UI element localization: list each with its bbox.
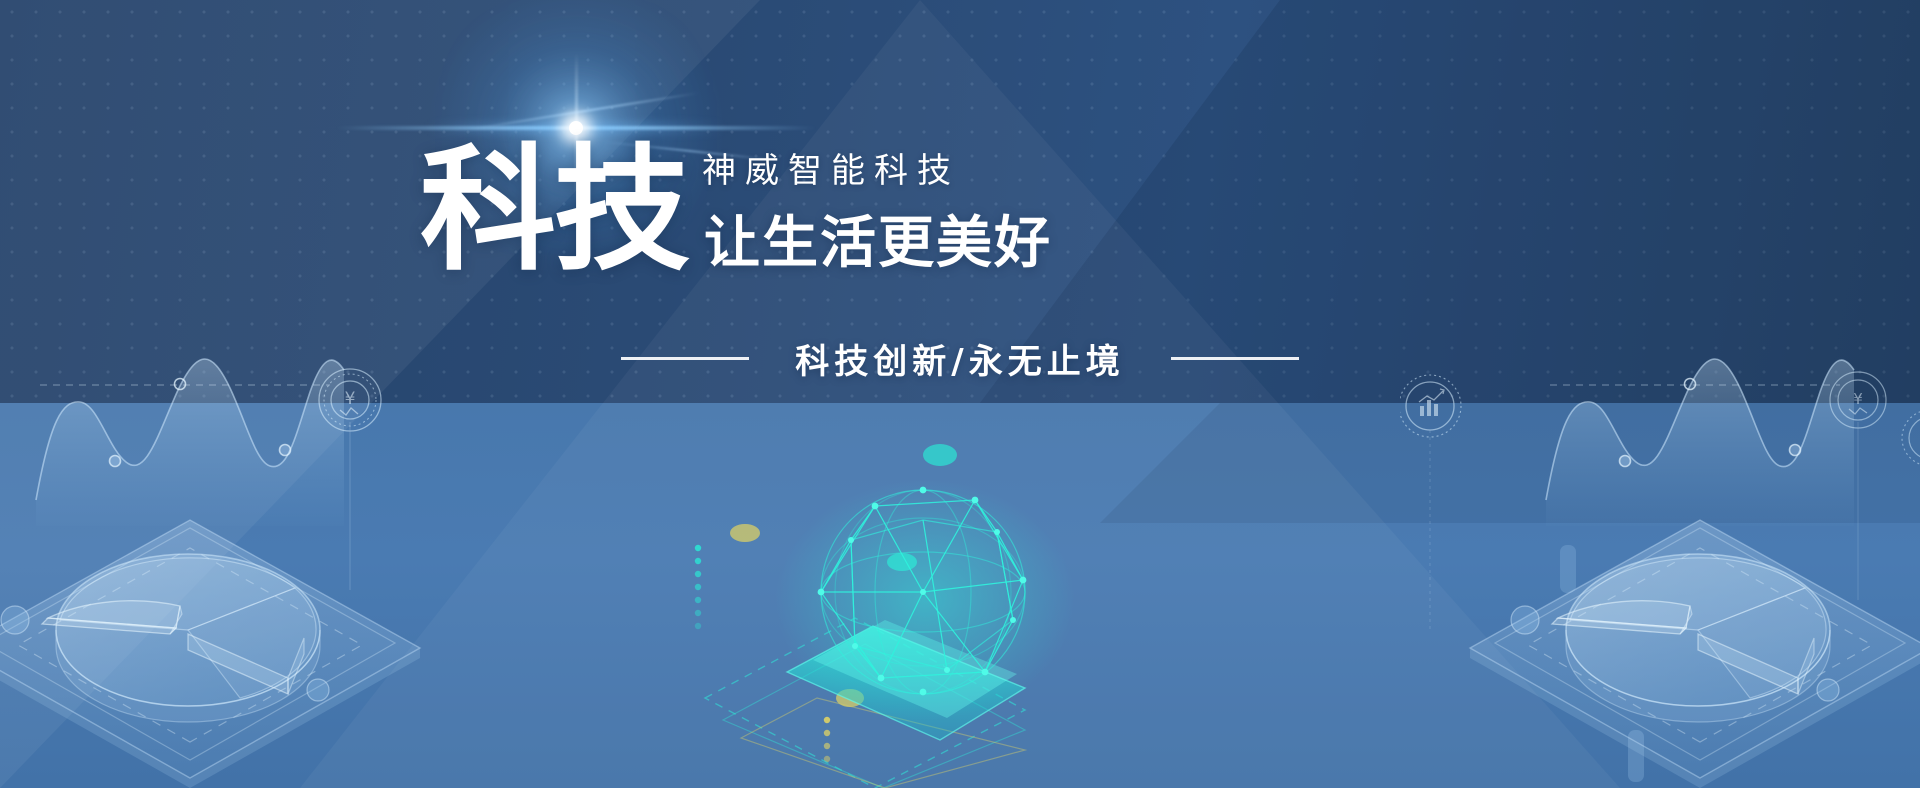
tech-hero-banner: ¥ (0, 0, 1920, 788)
tagline-text: 科技创新/永无止境 (795, 334, 1124, 383)
headline-keyword: 科技 (420, 140, 688, 280)
tagline-rule-left (621, 357, 749, 360)
tagline-group: 科技创新/永无止境 (0, 334, 1920, 383)
headline-slogan: 让生活更美好 (704, 212, 1052, 274)
headline-group: 科技 神威智能科技 让生活更美好 (420, 140, 1180, 300)
background-bottom (0, 403, 1920, 788)
headline-brand: 神威智能科技 (702, 152, 960, 190)
tagline-rule-right (1171, 357, 1299, 360)
lens-flare-core (569, 121, 583, 135)
